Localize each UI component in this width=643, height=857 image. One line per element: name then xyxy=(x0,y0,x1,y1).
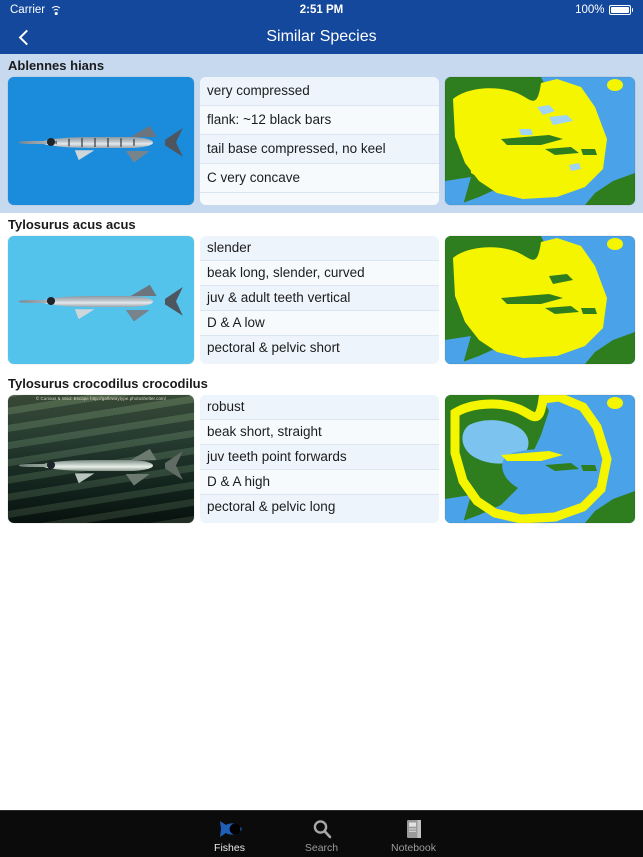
battery-full-icon xyxy=(609,5,634,15)
species-row: slender beak long, slender, curved juv &… xyxy=(0,236,643,372)
carrier-label: Carrier xyxy=(10,4,45,16)
back-button[interactable] xyxy=(0,20,48,54)
page-title: Similar Species xyxy=(0,28,643,46)
tab-notebook[interactable]: Notebook xyxy=(368,811,460,857)
status-time: 2:51 PM xyxy=(0,4,643,16)
species-row: © Curious & Wild: Escape http://galloway… xyxy=(0,395,643,531)
tab-bar: Fishes Search Notebook xyxy=(0,810,643,857)
species-list[interactable]: Ablennes hians very compressed flank: ~1… xyxy=(0,54,643,810)
fish-illustration xyxy=(19,456,183,475)
status-battery-group: 100% xyxy=(575,4,633,16)
trait-item: juv & adult teeth vertical xyxy=(200,286,439,311)
species-section: Ablennes hians very compressed flank: ~1… xyxy=(0,54,643,213)
notebook-icon xyxy=(406,818,422,840)
trait-item: robust xyxy=(200,395,439,420)
species-photo[interactable] xyxy=(8,236,194,364)
trait-list: robust beak short, straight juv teeth po… xyxy=(200,395,439,523)
trait-item: beak long, slender, curved xyxy=(200,261,439,286)
trait-item: juv teeth point forwards xyxy=(200,445,439,470)
map-graphic xyxy=(445,395,635,523)
tab-label: Notebook xyxy=(391,843,436,854)
wifi-icon xyxy=(50,5,62,15)
tab-fishes[interactable]: Fishes xyxy=(184,811,276,857)
tab-label: Fishes xyxy=(214,843,245,854)
status-bar: Carrier 2:51 PM 100% xyxy=(0,0,643,20)
species-photo[interactable]: © Curious & Wild: Escape http://galloway… xyxy=(8,395,194,523)
trait-item: beak short, straight xyxy=(200,420,439,445)
species-photo[interactable] xyxy=(8,77,194,205)
distribution-map[interactable] xyxy=(445,236,635,364)
trait-item: pectoral & pelvic short xyxy=(200,336,439,364)
tab-search[interactable]: Search xyxy=(276,811,368,857)
map-graphic xyxy=(445,236,635,364)
trait-item: flank: ~12 black bars xyxy=(200,106,439,135)
chevron-left-icon xyxy=(18,29,34,45)
tab-label: Search xyxy=(305,843,338,854)
species-section: Tylosurus acus acus slender beak long, s… xyxy=(0,213,643,372)
fish-illustration xyxy=(19,133,183,152)
map-graphic xyxy=(445,77,635,205)
trait-item: pectoral & pelvic long xyxy=(200,495,439,523)
status-carrier-group: Carrier xyxy=(10,4,62,16)
species-name: Tylosurus crocodilus crocodilus xyxy=(0,372,643,395)
trait-item: slender xyxy=(200,236,439,261)
species-name: Tylosurus acus acus xyxy=(0,213,643,236)
photo-watermark: © Curious & Wild: Escape http://galloway… xyxy=(8,396,194,401)
fish-illustration xyxy=(19,292,183,311)
species-name: Ablennes hians xyxy=(0,54,643,77)
trait-item: very compressed xyxy=(200,77,439,106)
fish-icon xyxy=(217,818,243,840)
trait-item: D & A low xyxy=(200,311,439,336)
app-root: Carrier 2:51 PM 100% Similar Species Abl… xyxy=(0,0,643,857)
distribution-map[interactable] xyxy=(445,395,635,523)
distribution-map[interactable] xyxy=(445,77,635,205)
trait-list: slender beak long, slender, curved juv &… xyxy=(200,236,439,364)
trait-item: C very concave xyxy=(200,164,439,193)
trait-item: D & A high xyxy=(200,470,439,495)
species-section: Tylosurus crocodilus crocodilus © Curiou… xyxy=(0,372,643,531)
nav-bar: Similar Species xyxy=(0,20,643,54)
battery-percent-label: 100% xyxy=(575,4,604,16)
trait-list: very compressed flank: ~12 black bars ta… xyxy=(200,77,439,205)
trait-item: tail base compressed, no keel xyxy=(200,135,439,164)
species-row: very compressed flank: ~12 black bars ta… xyxy=(0,77,643,213)
search-icon xyxy=(312,818,332,840)
